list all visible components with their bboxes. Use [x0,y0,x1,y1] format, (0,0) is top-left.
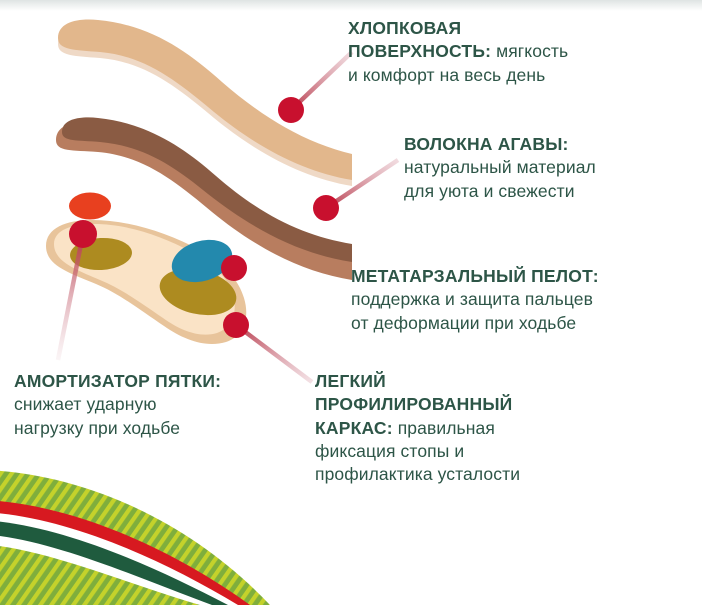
callout-dot-frame[interactable] [223,312,249,338]
callout-dot-cotton[interactable] [278,97,304,123]
callout-dot-agave[interactable] [313,195,339,221]
insole-infographic: ХЛОПКОВАЯ ПОВЕРХНОСТЬ: мягкость и комфор… [0,0,702,605]
callout-dot-metatarsal[interactable] [221,255,247,281]
callout-cotton-body-line1: мягкость [491,41,568,61]
callout-heel-body-line2: нагрузку при ходьбе [14,418,180,438]
brand-swoosh [0,470,270,605]
callout-frame: ЛЕГКИЙ ПРОФИЛИРОВАННЫЙ КАРКАС: правильна… [315,370,605,486]
callout-frame-body-line3: профилактика усталости [315,464,520,484]
callout-cotton-title-line2: ПОВЕРХНОСТЬ: [348,41,491,61]
callout-agave-title-line1: ВОЛОКНА АГАВЫ: [404,134,569,154]
callout-heel: АМОРТИЗАТОР ПЯТКИ: снижает ударную нагру… [14,370,304,440]
callout-cotton-title-line1: ХЛОПКОВАЯ [348,18,461,38]
callout-metatarsal: МЕТАТАРЗАЛЬНЫЙ ПЕЛОТ: поддержка и защита… [351,265,696,335]
callout-heel-title-line1: АМОРТИЗАТОР ПЯТКИ: [14,371,221,391]
callout-agave: ВОЛОКНА АГАВЫ: натуральный материал для … [404,133,694,203]
callout-cotton-body-line2: и комфорт на весь день [348,65,545,85]
heel-cushion [69,193,111,220]
callout-metatarsal-body-line1: поддержка и защита пальцев [351,289,593,309]
callout-agave-body-line1: натуральный материал [404,157,596,177]
callout-dot-heel[interactable] [69,220,97,248]
callout-frame-body-line1: правильная [393,418,495,438]
callout-frame-title-line3: КАРКАС: [315,418,393,438]
callout-cotton: ХЛОПКОВАЯ ПОВЕРХНОСТЬ: мягкость и комфор… [348,17,688,87]
cotton-layer-surface [58,20,352,180]
callout-metatarsal-body-line2: от деформации при ходьбе [351,313,576,333]
callout-frame-title-line2: ПРОФИЛИРОВАННЫЙ [315,394,512,414]
callout-agave-body-line2: для уюта и свежести [404,181,575,201]
callout-metatarsal-title-line1: МЕТАТАРЗАЛЬНЫЙ ПЕЛОТ: [351,266,599,286]
callout-frame-body-line2: фиксация стопы и [315,441,464,461]
cotton-top-layer [58,20,352,186]
callout-frame-title-line1: ЛЕГКИЙ [315,371,386,391]
callout-heel-body-line1: снижает ударную [14,394,157,414]
